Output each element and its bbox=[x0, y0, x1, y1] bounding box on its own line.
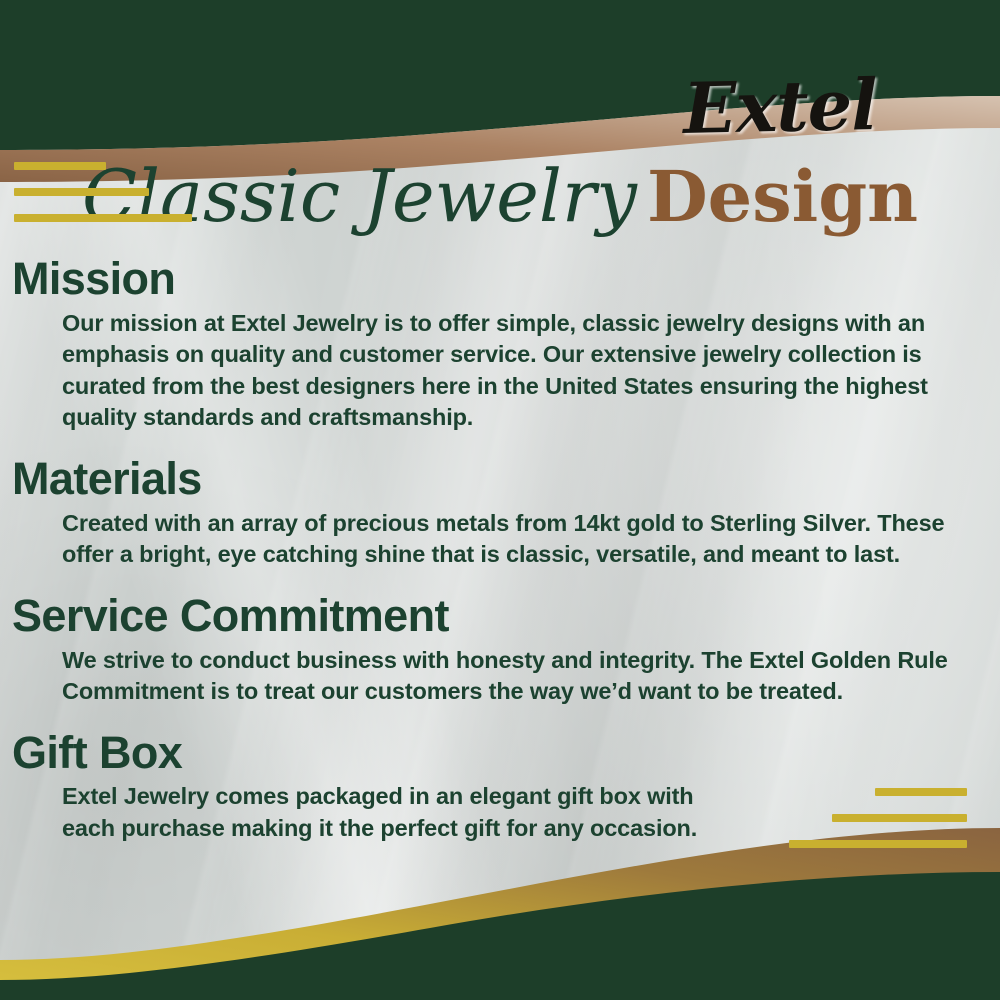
content-sections: Mission Our mission at Extel Jewelry is … bbox=[0, 256, 1000, 866]
section-service-commitment: Service Commitment We strive to conduct … bbox=[0, 593, 1000, 708]
section-gift-box: Gift Box Extel Jewelry comes packaged in… bbox=[0, 730, 1000, 845]
section-body: Our mission at Extel Jewelry is to offer… bbox=[62, 308, 966, 434]
section-heading: Materials bbox=[12, 456, 1000, 502]
gold-rule bbox=[14, 188, 149, 196]
poster-canvas: Extel Classic JewelryDesign Mission Our … bbox=[0, 0, 1000, 1000]
section-mission: Mission Our mission at Extel Jewelry is … bbox=[0, 256, 1000, 434]
section-materials: Materials Created with an array of preci… bbox=[0, 456, 1000, 571]
section-body: Created with an array of precious metals… bbox=[62, 508, 966, 571]
section-body: Extel Jewelry comes packaged in an elega… bbox=[62, 781, 750, 844]
section-heading: Service Commitment bbox=[12, 593, 1000, 639]
gold-rule bbox=[14, 214, 192, 222]
section-heading: Mission bbox=[12, 256, 1000, 302]
gold-rules-top-left bbox=[14, 162, 192, 240]
section-body: We strive to conduct business with hones… bbox=[62, 645, 966, 708]
brand-logo: Extel bbox=[599, 68, 960, 146]
section-heading: Gift Box bbox=[12, 730, 1000, 776]
gold-rule bbox=[14, 162, 106, 170]
headline-accent-part: Design bbox=[647, 155, 918, 238]
